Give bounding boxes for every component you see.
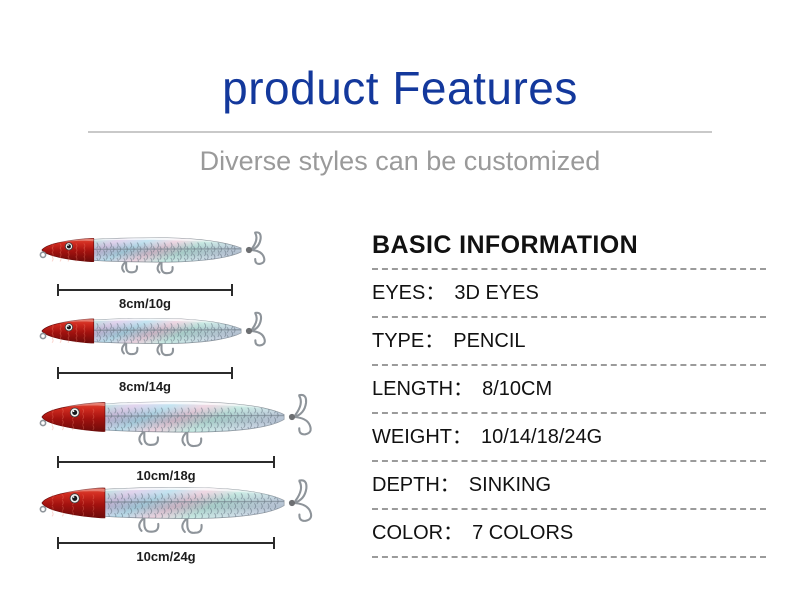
spec-value: PENCIL <box>453 318 525 364</box>
spec-key: WEIGHT <box>372 414 452 460</box>
measurement-line <box>57 289 233 291</box>
basic-information-panel: BASIC INFORMATION EYES：3D EYESTYPE：PENCI… <box>372 228 766 558</box>
measurement-bar: 8cm/14g <box>57 367 233 379</box>
page-title: product Features <box>0 60 800 116</box>
spec-list: EYES：3D EYESTYPE：PENCILLENGTH：8/10CMWEIG… <box>372 268 766 558</box>
lure-illustration <box>30 467 318 539</box>
lure-image <box>30 467 318 544</box>
spec-key: COLOR <box>372 510 443 556</box>
page-header: product Features Diverse styles can be c… <box>0 0 800 190</box>
spec-row-color: COLOR：7 COLORS <box>372 510 766 556</box>
measurement-bar: 10cm/24g <box>57 537 275 549</box>
spec-row-type: TYPE：PENCIL <box>372 318 766 364</box>
fishing-lure-gallery: 8cm/10g <box>30 222 350 567</box>
measurement-line <box>57 461 275 463</box>
spec-row-length: LENGTH：8/10CM <box>372 366 766 412</box>
info-panel-heading: BASIC INFORMATION <box>372 228 766 268</box>
spec-value: 10/14/18/24G <box>481 414 602 460</box>
lure-image <box>30 302 275 365</box>
spec-colon: ： <box>443 510 472 556</box>
spec-row-weight: WEIGHT：10/14/18/24G <box>372 414 766 460</box>
spec-colon: ： <box>452 414 481 460</box>
lure-illustration <box>30 302 275 360</box>
spec-value: 7 COLORS <box>472 510 573 556</box>
measurement-line <box>57 542 275 544</box>
measurement-bar: 8cm/10g <box>57 284 233 296</box>
lure-illustration <box>30 382 318 452</box>
lure-image <box>30 222 275 283</box>
spec-colon: ： <box>425 270 454 316</box>
spec-row-eyes: EYES：3D EYES <box>372 270 766 316</box>
spec-value: SINKING <box>469 462 551 508</box>
lure-image <box>30 382 318 457</box>
spec-colon: ： <box>440 462 469 508</box>
measurement-line <box>57 372 233 374</box>
spec-row-depth: DEPTH：SINKING <box>372 462 766 508</box>
lure-size-label: 10cm/24g <box>57 548 275 566</box>
spec-value: 3D EYES <box>454 270 538 316</box>
spec-value: 8/10CM <box>482 366 552 412</box>
spec-colon: ： <box>424 318 453 364</box>
spec-colon: ： <box>453 366 482 412</box>
spec-key: DEPTH <box>372 462 440 508</box>
page-subtitle: Diverse styles can be customized <box>0 142 800 180</box>
spec-key: EYES <box>372 270 425 316</box>
spec-separator <box>372 556 766 558</box>
lure-illustration <box>30 222 275 278</box>
title-divider <box>88 131 712 133</box>
spec-key: TYPE <box>372 318 424 364</box>
spec-key: LENGTH <box>372 366 453 412</box>
